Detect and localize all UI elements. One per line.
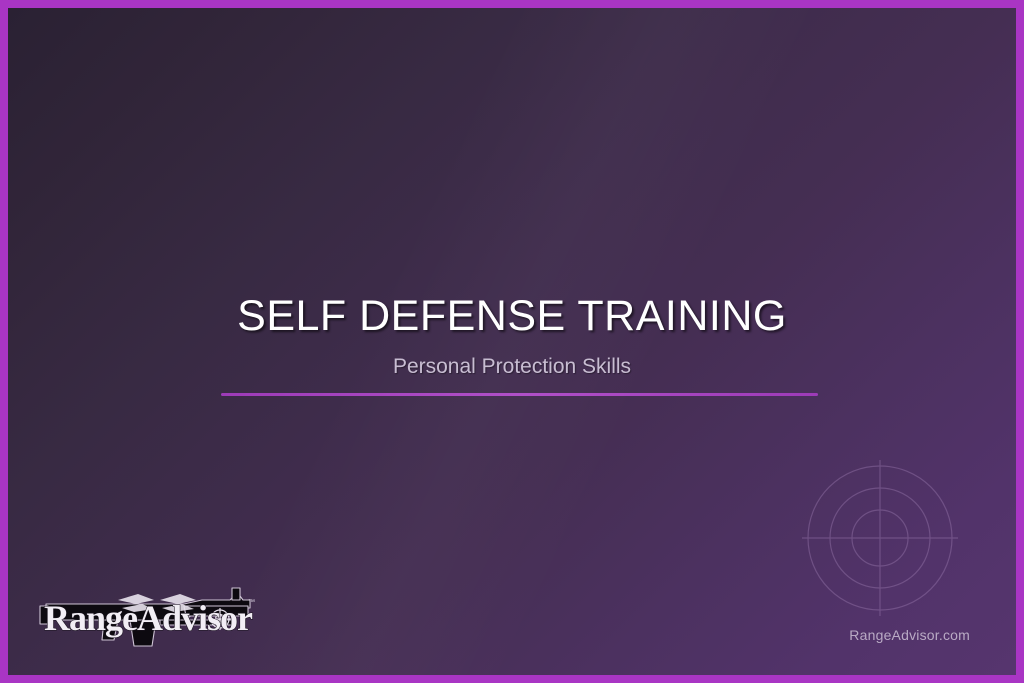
page-subtitle: Personal Protection Skills	[8, 354, 1016, 379]
page-title: SELF DEFENSE TRAINING	[8, 292, 1016, 340]
brand-logo[interactable]: RangeAdvisor ™	[34, 574, 262, 656]
svg-text:™: ™	[248, 599, 255, 606]
footer-site-url: RangeAdvisor.com	[849, 627, 970, 643]
svg-text:RangeAdvisor: RangeAdvisor	[44, 598, 253, 638]
title-block: SELF DEFENSE TRAINING Personal Protectio…	[8, 292, 1016, 379]
slide-canvas: SELF DEFENSE TRAINING Personal Protectio…	[8, 8, 1016, 675]
target-crosshair-icon	[800, 458, 960, 618]
title-divider-rule	[221, 393, 818, 396]
presentation-slide: SELF DEFENSE TRAINING Personal Protectio…	[0, 0, 1024, 683]
